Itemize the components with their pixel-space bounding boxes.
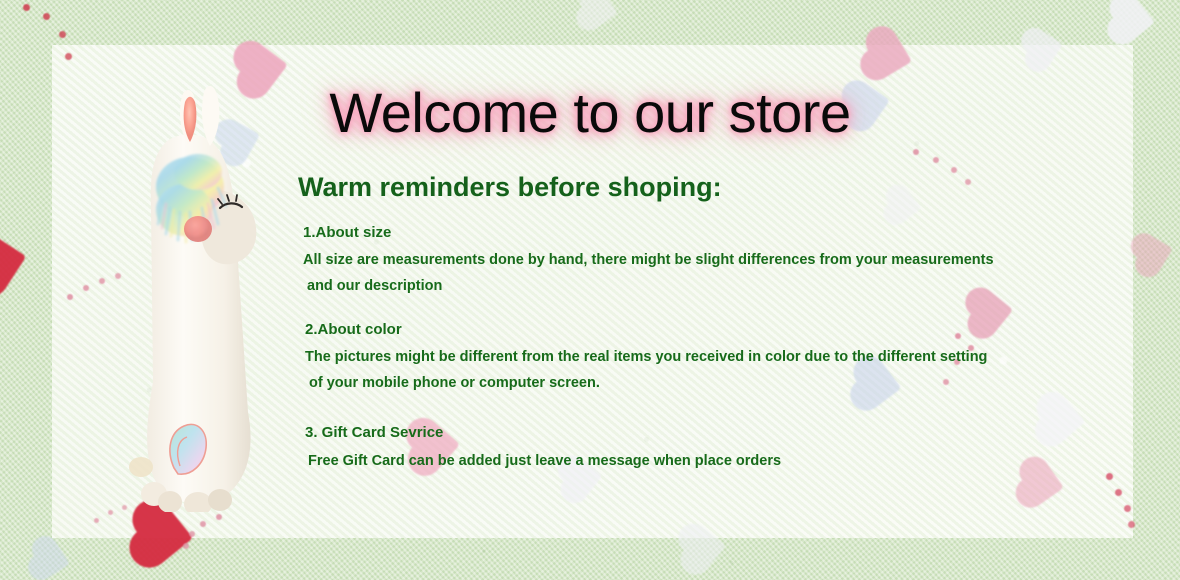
plush-tail bbox=[129, 457, 153, 477]
product-image-alpaca-plush bbox=[108, 82, 284, 512]
section-body-line: Free Gift Card can be added just leave a… bbox=[308, 449, 781, 475]
section-body-line: All size are measurements done by hand, … bbox=[303, 248, 994, 274]
dot-trail-top-left-dot bbox=[23, 4, 30, 11]
section-gift-card: 3. Gift Card Sevrice Free Gift Card can … bbox=[305, 424, 781, 475]
section-heading: 3. Gift Card Sevrice bbox=[305, 424, 781, 441]
section-heading: 1.About size bbox=[303, 224, 994, 241]
section-about-color: 2.About color The pictures might be diff… bbox=[305, 321, 987, 397]
section-body-line: and our description bbox=[307, 274, 994, 300]
heart-icon bbox=[0, 236, 26, 289]
section-body-line: The pictures might be different from the… bbox=[305, 345, 987, 371]
dot-trail-bottom-center-dot bbox=[183, 543, 189, 549]
alpaca-plush-illustration bbox=[108, 82, 284, 512]
dot-trail-top-left-dot bbox=[43, 13, 50, 20]
heart-blue-bottom-left bbox=[37, 545, 68, 576]
heart-pink-far-right-mid bbox=[1139, 237, 1171, 269]
plush-blush-cheek bbox=[184, 216, 212, 242]
heart-red-left-border bbox=[0, 239, 23, 284]
plush-leg-2 bbox=[158, 491, 182, 512]
section-about-size: 1.About size All size are measurements d… bbox=[303, 224, 994, 300]
heart-white-top-center bbox=[585, 0, 615, 25]
dot-trail-top-left-dot bbox=[59, 31, 66, 38]
heart-icon bbox=[1113, 0, 1155, 41]
section-body-line: of your mobile phone or computer screen. bbox=[309, 371, 987, 397]
section-heading: 2.About color bbox=[305, 321, 987, 338]
banner-subtitle: Warm reminders before shoping: bbox=[298, 172, 722, 203]
heart-icon bbox=[1137, 235, 1173, 271]
heart-white-top-far-right bbox=[1118, 4, 1151, 37]
heart-icon bbox=[582, 0, 618, 28]
promo-banner: Welcome to our store Warm reminders befo… bbox=[0, 0, 1180, 580]
plush-leg-4 bbox=[208, 489, 232, 511]
banner-title: Welcome to our store bbox=[0, 84, 1180, 143]
heart-icon bbox=[34, 542, 70, 578]
